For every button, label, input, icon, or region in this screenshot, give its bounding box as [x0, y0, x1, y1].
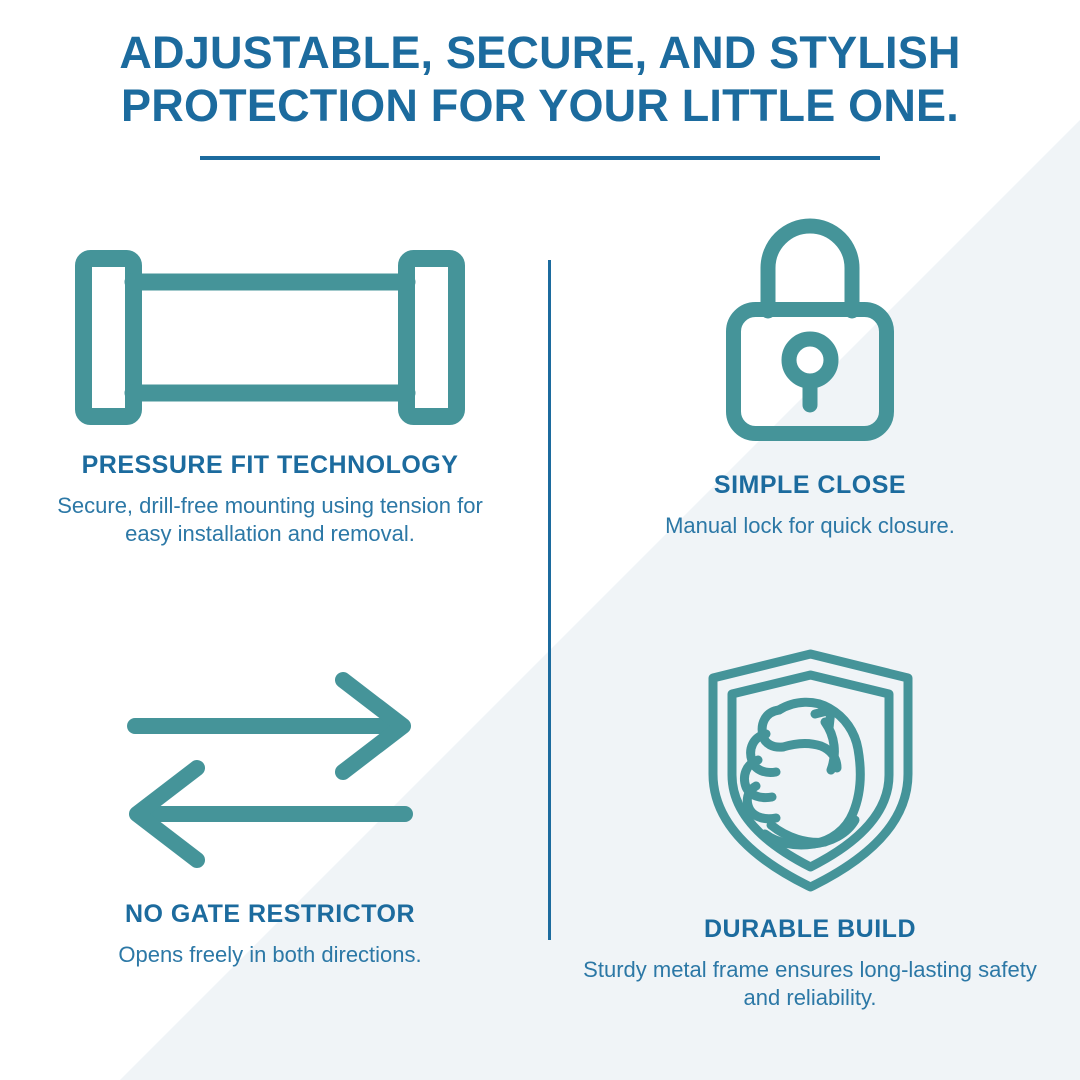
feature-card-pressure-fit-technology: PRESSURE FIT TECHNOLOGY Secure, drill-fr…: [0, 200, 540, 630]
page-title: ADJUSTABLE, SECURE, AND STYLISH PROTECTI…: [0, 26, 1080, 132]
feature-title: PRESSURE FIT TECHNOLOGY: [82, 451, 459, 480]
content-layer: ADJUSTABLE, SECURE, AND STYLISH PROTECTI…: [0, 0, 1080, 1080]
feature-card-no-gate-restrictor: NO GATE RESTRICTOR Opens freely in both …: [0, 630, 540, 1060]
feature-card-durable-build: DURABLE BUILD Sturdy metal frame ensures…: [540, 630, 1080, 1060]
feature-description: Manual lock for quick closure.: [665, 512, 955, 540]
feature-title: DURABLE BUILD: [704, 915, 916, 944]
headline-block: ADJUSTABLE, SECURE, AND STYLISH PROTECTI…: [0, 26, 1080, 160]
feature-card-simple-close: SIMPLE CLOSE Manual lock for quick closu…: [540, 200, 1080, 630]
shield-fist-icon: [703, 648, 918, 893]
feature-grid: PRESSURE FIT TECHNOLOGY Secure, drill-fr…: [0, 200, 1080, 1060]
infographic-canvas: ADJUSTABLE, SECURE, AND STYLISH PROTECTI…: [0, 0, 1080, 1080]
two-way-arrows-icon: [125, 670, 415, 870]
pressure-rod-icon: [75, 250, 465, 425]
feature-description: Sturdy metal frame ensures long-lasting …: [580, 956, 1040, 1012]
feature-description: Secure, drill-free mounting using tensio…: [40, 492, 500, 548]
feature-title: SIMPLE CLOSE: [714, 471, 906, 500]
feature-description: Opens freely in both directions.: [118, 941, 421, 969]
column-divider: [548, 260, 551, 940]
feature-title: NO GATE RESTRICTOR: [125, 900, 415, 929]
padlock-icon: [720, 206, 900, 441]
headline-divider: [200, 156, 880, 160]
